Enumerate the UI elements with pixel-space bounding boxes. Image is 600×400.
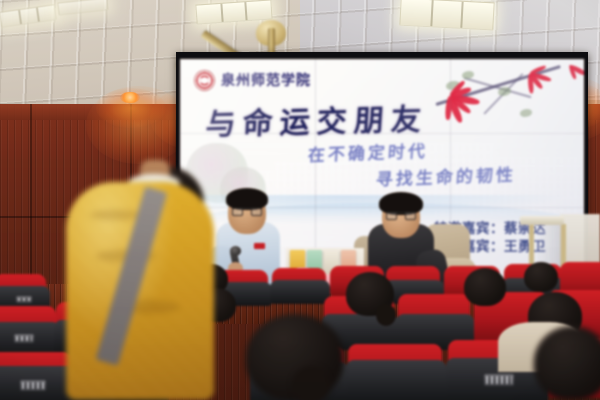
photo-scene: 泉州师范学院 与命运交朋友 在不确定时代 寻找生命的韧性 特邀嘉宾：蔡崇达 主持…	[0, 0, 600, 400]
standing-attendee	[0, 0, 600, 400]
garment-fold	[90, 210, 140, 220]
